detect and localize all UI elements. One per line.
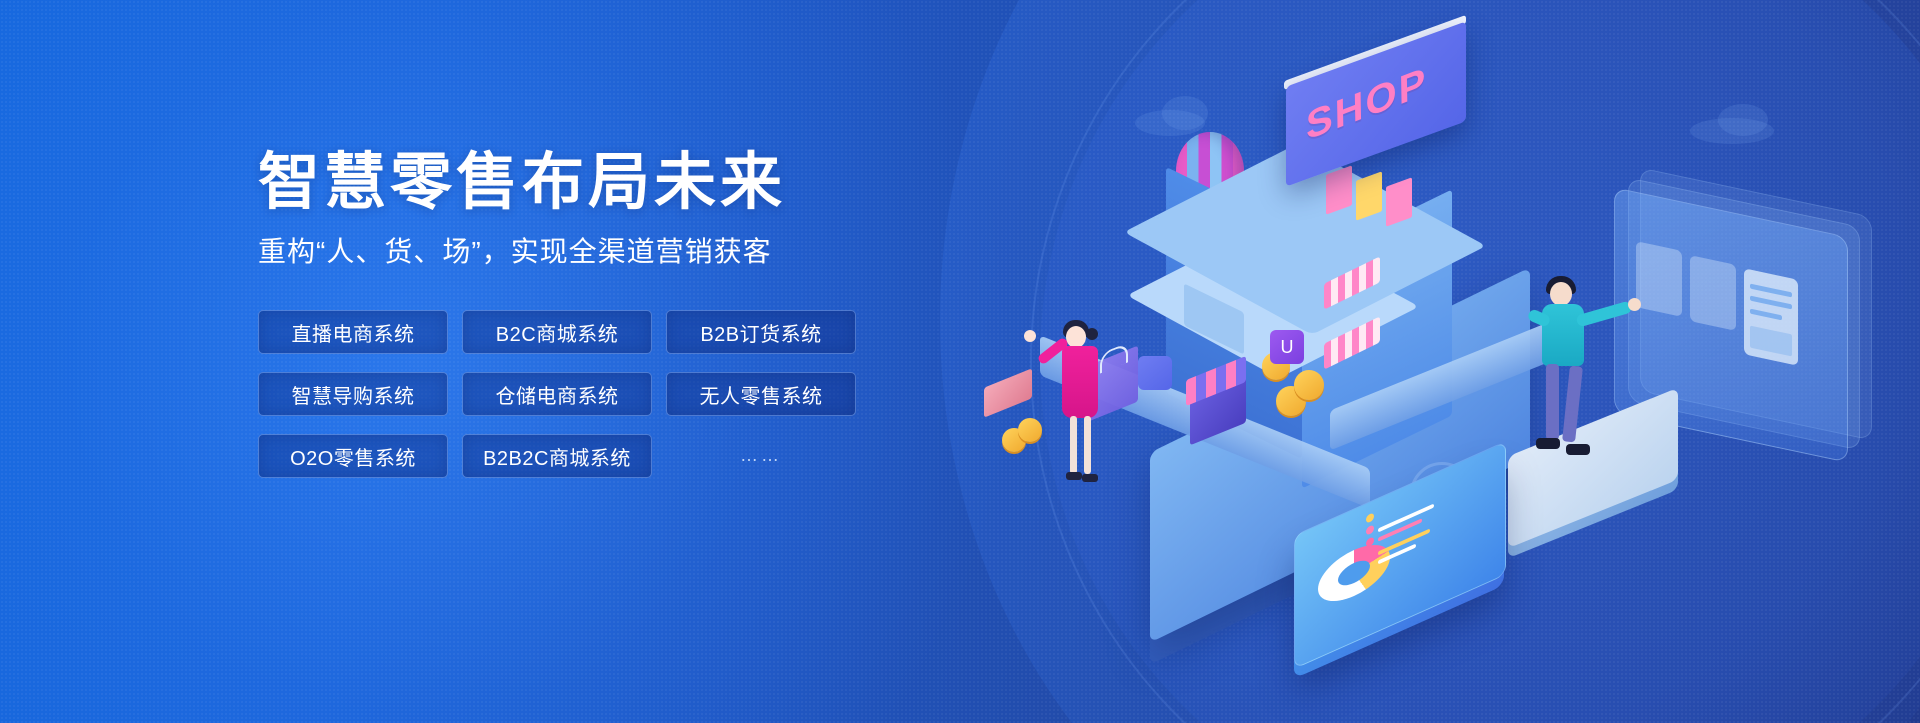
retail-isometric-illustration: SHOP U [1080,30,1920,690]
woman-shopper-figure [1062,346,1098,418]
man-hand [1628,298,1641,311]
blue-chip-icon [1138,356,1172,390]
tag-o2o-retail[interactable]: O2O零售系统 [258,434,448,478]
woman-head [1066,326,1086,348]
gold-coins-icon [1018,418,1042,442]
woman-leg [1070,416,1077,474]
banner-copy: 智慧零售布局未来 重构“人、货、场”，实现全渠道营销获客 直播电商系统 B2C商… [258,150,918,478]
screen-card [1690,255,1736,331]
tag-b2c-mall[interactable]: B2C商城系统 [462,310,652,354]
woman-hair-bun [1086,328,1098,340]
screen-card [1636,241,1682,317]
gold-coins-icon [1294,370,1324,400]
woman-shoe [1066,472,1082,480]
man-shoe [1536,438,1560,449]
man-leg [1546,364,1559,440]
tag-b2b2c-mall[interactable]: B2B2C商城系统 [462,434,652,478]
woman-hand [1024,330,1036,342]
tag-live-ecommerce[interactable]: 直播电商系统 [258,310,448,354]
banner-title: 智慧零售布局未来 [258,150,918,216]
man-shoe [1566,444,1590,455]
tag-b2b-ordering[interactable]: B2B订货系统 [666,310,856,354]
tag-warehouse-ecommerce[interactable]: 仓储电商系统 [462,372,652,416]
banner-subtitle: 重构“人、货、场”，实现全渠道营销获客 [258,234,918,270]
tag-more-ellipsis: …… [666,434,856,476]
man-head [1550,282,1572,306]
man-platform [1508,388,1678,549]
man-operator-figure [1542,304,1584,366]
purple-chip-icon: U [1270,330,1304,364]
woman-leg [1084,416,1091,474]
woman-shoe [1082,474,1098,482]
banner-stage: 智慧零售布局未来 重构“人、货、场”，实现全渠道营销获客 直播电商系统 B2C商… [0,0,1920,723]
tag-unmanned-retail[interactable]: 无人零售系统 [666,372,856,416]
product-tag-grid: 直播电商系统 B2C商城系统 B2B订货系统 智慧导购系统 仓储电商系统 无人零… [258,310,858,478]
tag-smart-guide[interactable]: 智慧导购系统 [258,372,448,416]
